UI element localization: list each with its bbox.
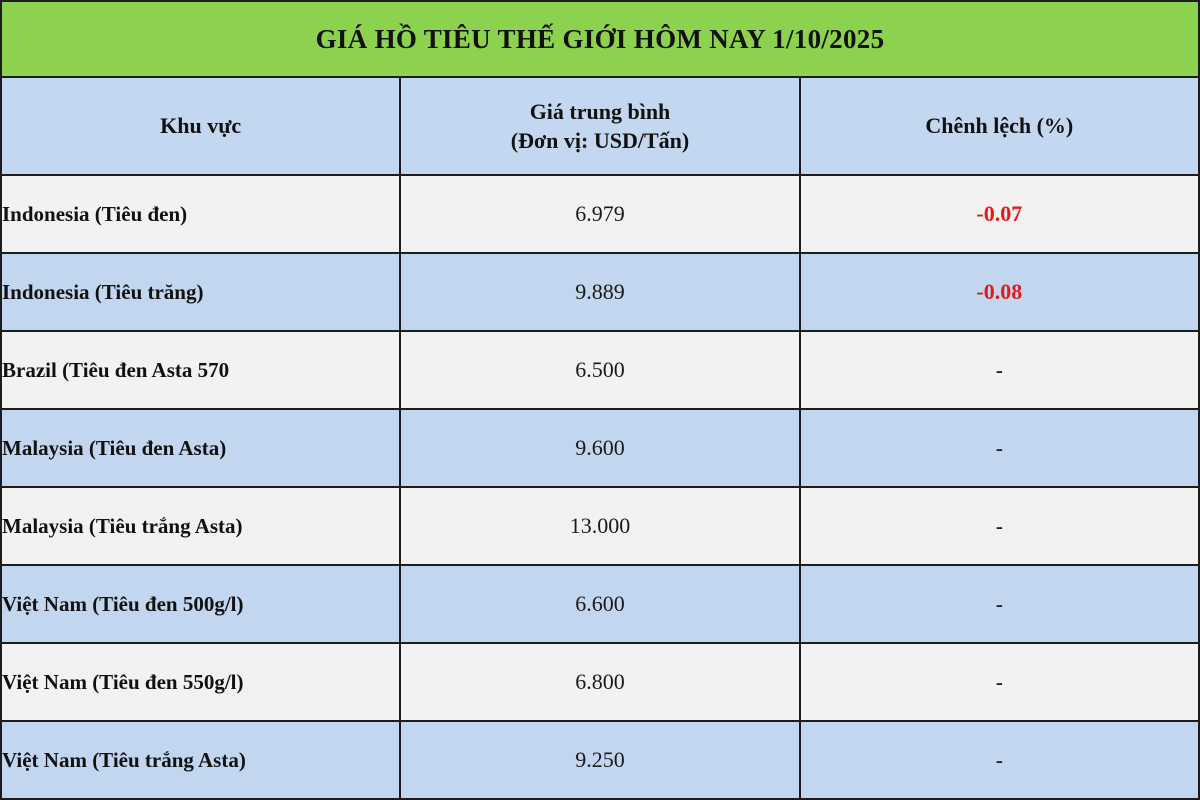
- cell-region: Malaysia (Tiêu đen Asta): [1, 409, 400, 487]
- cell-price: 13.000: [400, 487, 799, 565]
- cell-price: 6.600: [400, 565, 799, 643]
- cell-delta: -: [800, 565, 1199, 643]
- cell-region: Việt Nam (Tiêu đen 500g/l): [1, 565, 400, 643]
- cell-delta-negative: -0.08: [800, 253, 1199, 331]
- column-header-price: Giá trung bình (Đơn vị: USD/Tấn): [400, 77, 799, 175]
- table-row: Việt Nam (Tiêu trắng Asta)9.250-: [1, 721, 1199, 799]
- table-body: Indonesia (Tiêu đen)6.979-0.07Indonesia …: [1, 175, 1199, 799]
- column-header-row: Khu vực Giá trung bình (Đơn vị: USD/Tấn)…: [1, 77, 1199, 175]
- cell-region: Indonesia (Tiêu đen): [1, 175, 400, 253]
- table-row: Việt Nam (Tiêu đen 550g/l)6.800-: [1, 643, 1199, 721]
- title-row: GIÁ HỒ TIÊU THẾ GIỚI HÔM NAY 1/10/2025: [1, 1, 1199, 77]
- page-title: GIÁ HỒ TIÊU THẾ GIỚI HÔM NAY 1/10/2025: [1, 1, 1199, 77]
- cell-price: 9.600: [400, 409, 799, 487]
- world-pepper-price-table: GIÁ HỒ TIÊU THẾ GIỚI HÔM NAY 1/10/2025 K…: [0, 0, 1200, 800]
- cell-region: Brazil (Tiêu đen Asta 570: [1, 331, 400, 409]
- cell-price: 6.979: [400, 175, 799, 253]
- table-row: Indonesia (Tiêu đen)6.979-0.07: [1, 175, 1199, 253]
- cell-price: 6.800: [400, 643, 799, 721]
- cell-delta: -: [800, 721, 1199, 799]
- table-row: Việt Nam (Tiêu đen 500g/l)6.600-: [1, 565, 1199, 643]
- column-header-price-line1: Giá trung bình: [530, 99, 671, 124]
- cell-price: 6.500: [400, 331, 799, 409]
- cell-delta-negative: -0.07: [800, 175, 1199, 253]
- cell-price: 9.889: [400, 253, 799, 331]
- table-row: Malaysia (Tiêu đen Asta)9.600-: [1, 409, 1199, 487]
- cell-region: Việt Nam (Tiêu trắng Asta): [1, 721, 400, 799]
- cell-region: Indonesia (Tiêu trăng): [1, 253, 400, 331]
- column-header-delta: Chênh lệch (%): [800, 77, 1199, 175]
- cell-price: 9.250: [400, 721, 799, 799]
- cell-delta: -: [800, 643, 1199, 721]
- cell-delta: -: [800, 487, 1199, 565]
- column-header-price-line2: (Đơn vị: USD/Tấn): [511, 128, 689, 153]
- table-row: Brazil (Tiêu đen Asta 5706.500-: [1, 331, 1199, 409]
- page-root: Doanh nghiệp & Thương hiệu GIÁ HỒ TIÊU T…: [0, 0, 1200, 800]
- cell-delta: -: [800, 409, 1199, 487]
- table-row: Indonesia (Tiêu trăng)9.889-0.08: [1, 253, 1199, 331]
- cell-region: Việt Nam (Tiêu đen 550g/l): [1, 643, 400, 721]
- table-head: GIÁ HỒ TIÊU THẾ GIỚI HÔM NAY 1/10/2025 K…: [1, 1, 1199, 175]
- table-row: Malaysia (Tiêu trắng Asta)13.000-: [1, 487, 1199, 565]
- cell-region: Malaysia (Tiêu trắng Asta): [1, 487, 400, 565]
- column-header-region: Khu vực: [1, 77, 400, 175]
- cell-delta: -: [800, 331, 1199, 409]
